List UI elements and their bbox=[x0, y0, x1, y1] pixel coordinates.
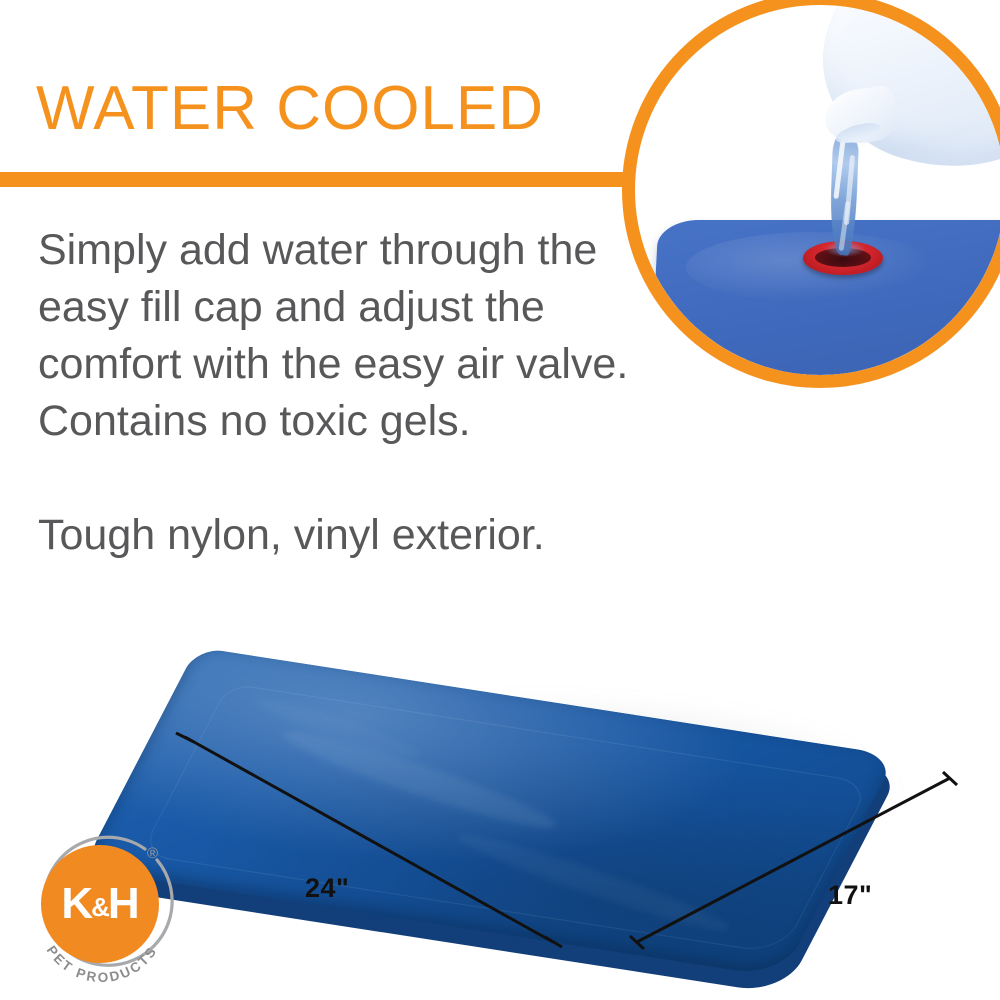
body-copy: Simply add water through the easy fill c… bbox=[38, 222, 663, 564]
inset-photo-water-fill bbox=[622, 0, 1000, 388]
pad-crease bbox=[450, 825, 737, 939]
dimension-label-width: 17" bbox=[828, 880, 872, 911]
brand-logo: PET PRODUCTS K&H ® bbox=[27, 832, 177, 984]
pitcher-icon bbox=[797, 5, 1000, 201]
page-title: WATER COOLED bbox=[36, 74, 544, 144]
dimension-label-length: 24" bbox=[305, 873, 349, 904]
registered-trademark-icon: ® bbox=[147, 846, 158, 861]
logo-wordmark: K&H bbox=[41, 845, 159, 963]
body-paragraph-2: Tough nylon, vinyl exterior. bbox=[38, 507, 663, 564]
logo-ampersand: & bbox=[91, 894, 109, 920]
headline-divider bbox=[0, 172, 660, 187]
infographic-page: WATER COOLED Simply add water through th… bbox=[0, 0, 1000, 1000]
body-paragraph-1: Simply add water through the easy fill c… bbox=[38, 222, 663, 450]
inset-photo-content bbox=[635, 5, 1000, 375]
pad-crease bbox=[275, 721, 564, 839]
logo-letter-k: K bbox=[61, 882, 92, 926]
logo-letter-h: H bbox=[108, 882, 139, 926]
